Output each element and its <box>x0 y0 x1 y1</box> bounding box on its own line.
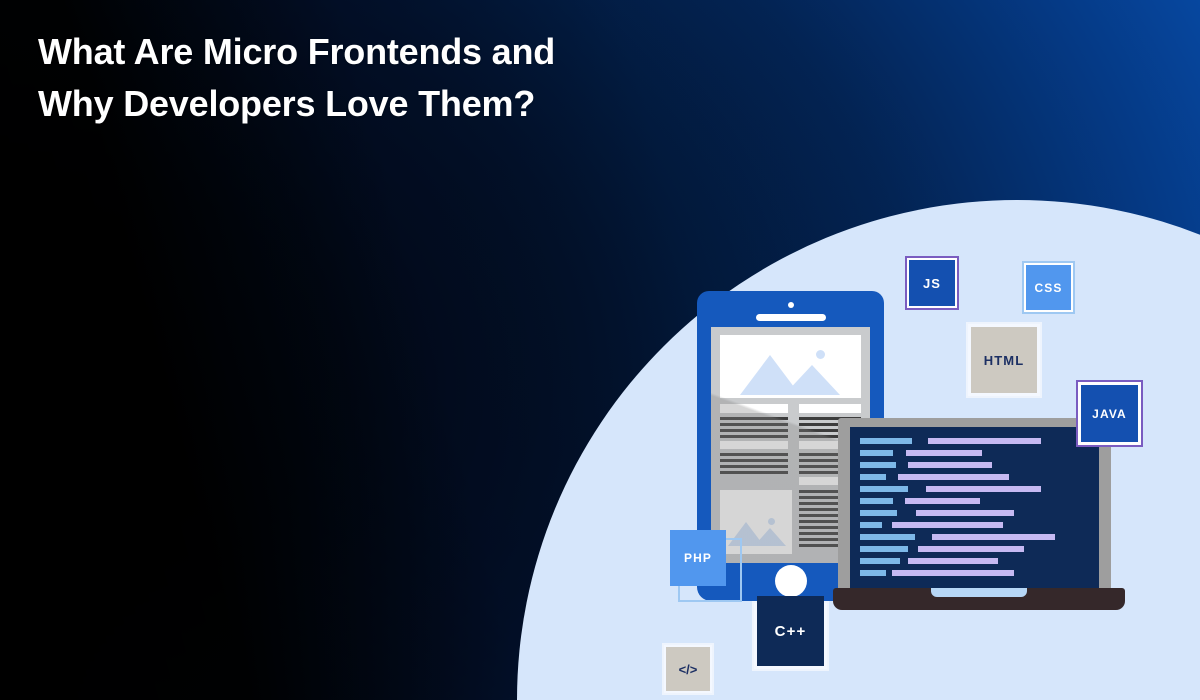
code-line-segment <box>860 498 893 504</box>
code-line-segment <box>926 486 1041 492</box>
code-line-segment <box>905 498 980 504</box>
badge-code-glyph[interactable]: </> <box>662 643 714 695</box>
code-line-segment <box>860 462 896 468</box>
code-line-segment <box>928 438 1041 444</box>
code-line-segment <box>892 570 1014 576</box>
code-line-segment <box>860 450 893 456</box>
image-placeholder-icon <box>738 347 844 395</box>
badge-label: CSS <box>1026 265 1071 310</box>
phone-image-card-top <box>720 335 861 398</box>
phone-home-button[interactable] <box>775 565 807 597</box>
code-line-segment <box>918 546 1024 552</box>
code-line-segment <box>906 450 982 456</box>
code-line-segment <box>932 534 1055 540</box>
code-line-segment <box>916 510 1014 516</box>
badge-php[interactable]: PHP <box>678 538 742 602</box>
badge-label: JAVA <box>1081 385 1138 442</box>
code-line-segment <box>908 558 998 564</box>
laptop-trackpad-notch <box>931 588 1027 597</box>
badge-cpp[interactable]: C++ <box>752 601 829 671</box>
code-line-segment <box>860 522 882 528</box>
code-line-segment <box>908 462 992 468</box>
laptop-lid <box>838 418 1111 590</box>
code-line-segment <box>860 558 900 564</box>
code-line-segment <box>860 546 908 552</box>
code-line-segment <box>892 522 1003 528</box>
page-title: What Are Micro Frontends and Why Develop… <box>38 26 555 130</box>
code-line-segment <box>860 534 915 540</box>
badge-css[interactable]: CSS <box>1022 261 1075 314</box>
laptop-mockup <box>833 418 1125 614</box>
code-line-segment <box>860 486 908 492</box>
code-line-segment <box>860 438 912 444</box>
banner: What Are Micro Frontends and Why Develop… <box>0 0 1200 700</box>
code-line-segment <box>860 570 886 576</box>
code-line-segment <box>860 510 897 516</box>
badge-html[interactable]: HTML <box>966 322 1042 398</box>
badge-java[interactable]: JAVA <box>1076 380 1143 447</box>
code-icon: </> <box>666 647 710 691</box>
badge-label: JS <box>909 260 955 306</box>
phone-speaker <box>756 314 826 321</box>
code-line-segment <box>860 474 886 480</box>
badge-js[interactable]: JS <box>905 256 959 310</box>
phone-camera-icon <box>788 302 794 308</box>
laptop-screen <box>850 427 1099 589</box>
badge-label: HTML <box>971 327 1037 393</box>
code-line-segment <box>898 474 1009 480</box>
badge-label: C++ <box>757 596 824 666</box>
badge-label: PHP <box>670 530 726 586</box>
